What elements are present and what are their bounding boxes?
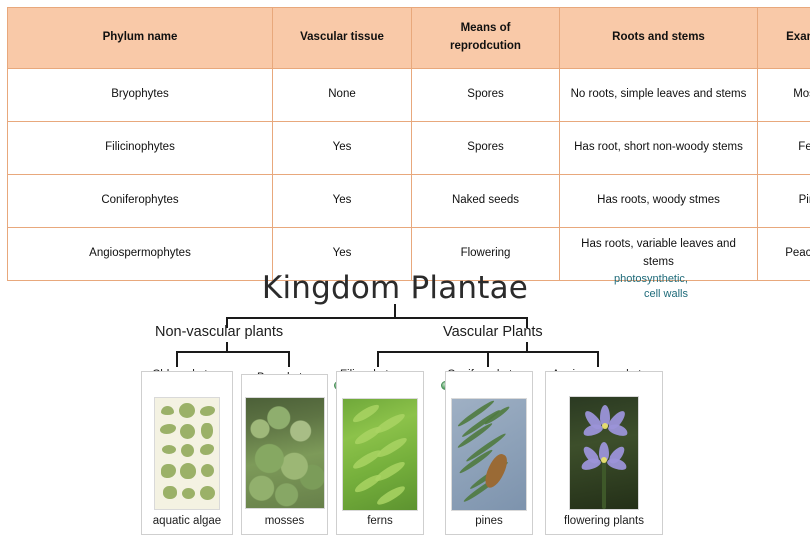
cell-roots: No roots, simple leaves and stems	[560, 69, 758, 122]
cell-phylum-name: Coniferophytes	[8, 175, 273, 228]
table-header: Phylum name Vascular tissue Means of rep…	[8, 8, 810, 69]
connector-vascular-drop-1	[377, 351, 379, 367]
plant-phyla-table: Phylum name Vascular tissue Means of rep…	[7, 7, 810, 281]
bryophyta-caption: mosses	[242, 515, 327, 527]
cell-phylum-name: Filicinophytes	[8, 122, 273, 175]
connector-nonvascular-drop-2	[288, 351, 290, 367]
chlorophyta-caption: aquatic algae	[142, 515, 232, 527]
annotation-line-1: photosynthetic,	[548, 272, 688, 287]
cell-vascular: Yes	[273, 122, 412, 175]
column-header-phylum-name: Phylum name	[8, 8, 273, 69]
connector-nonvascular-bar	[176, 351, 290, 353]
cell-phylum-name: Bryophytes	[8, 69, 273, 122]
kingdom-characteristics-annotation: photosynthetic, cell walls	[548, 272, 688, 302]
flowering-plant-photo-icon	[570, 397, 638, 509]
phylum-card-angiospermophyta[interactable]: flowering plants	[545, 371, 663, 535]
branch-label-non-vascular: Non-vascular plants	[155, 324, 283, 340]
column-header-vascular-tissue: Vascular tissue	[273, 8, 412, 69]
cell-reproduction: Spores	[412, 69, 560, 122]
cell-reproduction: Naked seeds	[412, 175, 560, 228]
phyla-table-container: Phylum name Vascular tissue Means of rep…	[7, 7, 803, 281]
connector-vascular-drop-3	[597, 351, 599, 367]
bryophyta-image	[245, 397, 325, 509]
cell-vascular: Yes	[273, 175, 412, 228]
coniferophyta-image	[451, 398, 527, 511]
cell-vascular: None	[273, 69, 412, 122]
cell-roots: Has root, short non-woody stems	[560, 122, 758, 175]
connector-level1-bar	[226, 317, 528, 319]
connector-vascular-drop-2	[487, 351, 489, 367]
cell-reproduction: Spores	[412, 122, 560, 175]
column-header-roots-and-stems: Roots and stems	[560, 8, 758, 69]
column-header-reproduction-line1: Means of	[461, 22, 511, 34]
table-row: Filicinophytes Yes Spores Has root, shor…	[8, 122, 810, 175]
cell-examples: Ferns	[758, 122, 810, 175]
annotation-line-2: cell walls	[548, 287, 688, 302]
phylum-card-filicophyta[interactable]: ferns	[336, 371, 424, 535]
table-body: Bryophytes None Spores No roots, simple …	[8, 69, 810, 281]
connector-kingdom-stem	[394, 304, 396, 317]
cell-roots: Has roots, woody stmes	[560, 175, 758, 228]
plant-classification-diagram: Kingdom Plantae photosynthetic, cell wal…	[0, 262, 810, 540]
fern-photo-icon	[343, 399, 417, 510]
connector-nonvascular-drop-1	[176, 351, 178, 367]
moss-photo-icon	[246, 398, 324, 508]
phylum-card-coniferophyta[interactable]: pines	[445, 371, 533, 535]
chlorophyta-image	[154, 397, 220, 510]
filicophyta-image	[342, 398, 418, 511]
cell-examples: Mosses	[758, 69, 810, 122]
phylum-card-bryophyta[interactable]: mosses	[241, 374, 328, 535]
pine-photo-icon	[452, 399, 526, 510]
algae-illustration-icon	[155, 398, 219, 509]
angiospermophyta-image	[569, 396, 639, 510]
coniferophyta-caption: pines	[446, 515, 532, 527]
column-header-reproduction-line2: reprodcution	[450, 40, 521, 52]
table-row: Coniferophytes Yes Naked seeds Has roots…	[8, 175, 810, 228]
phylum-card-chlorophyta[interactable]: aquatic algae	[141, 371, 233, 535]
cell-examples: Pines	[758, 175, 810, 228]
branch-label-vascular: Vascular Plants	[443, 324, 543, 340]
column-header-means-of-reproduction: Means of reprodcution	[412, 8, 560, 69]
angiospermophyta-caption: flowering plants	[546, 515, 662, 527]
filicophyta-caption: ferns	[337, 515, 423, 527]
table-header-row: Phylum name Vascular tissue Means of rep…	[8, 8, 810, 69]
table-row: Bryophytes None Spores No roots, simple …	[8, 69, 810, 122]
column-header-examples: Examples	[758, 8, 810, 69]
